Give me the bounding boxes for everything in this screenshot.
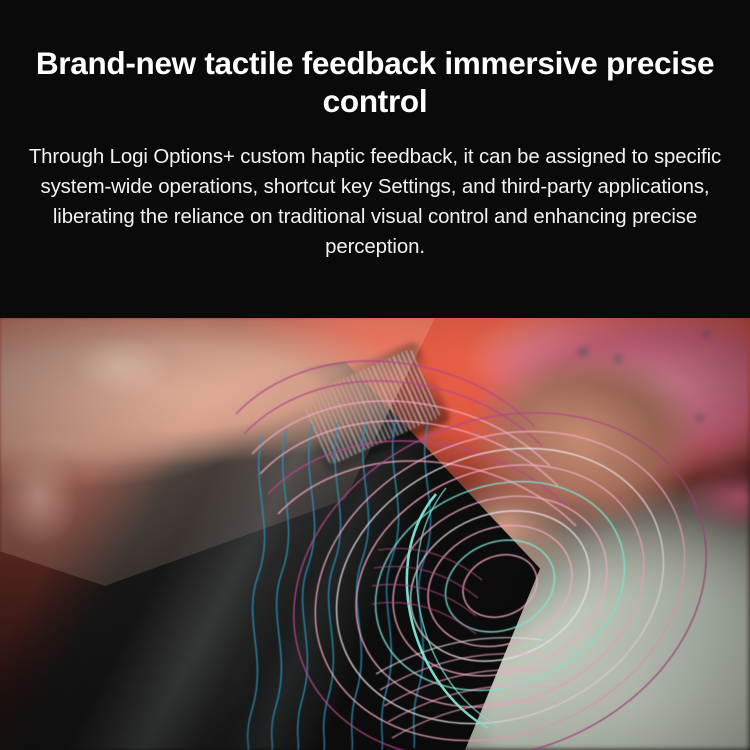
promo-page: Brand-new tactile feedback immersive pre… (0, 0, 750, 750)
text-panel: Brand-new tactile feedback immersive pre… (0, 0, 750, 318)
product-photo (0, 318, 750, 750)
photo-vignette (0, 318, 750, 750)
page-title: Brand-new tactile feedback immersive pre… (30, 44, 720, 120)
body-description: Through Logi Options+ custom haptic feed… (14, 142, 736, 262)
